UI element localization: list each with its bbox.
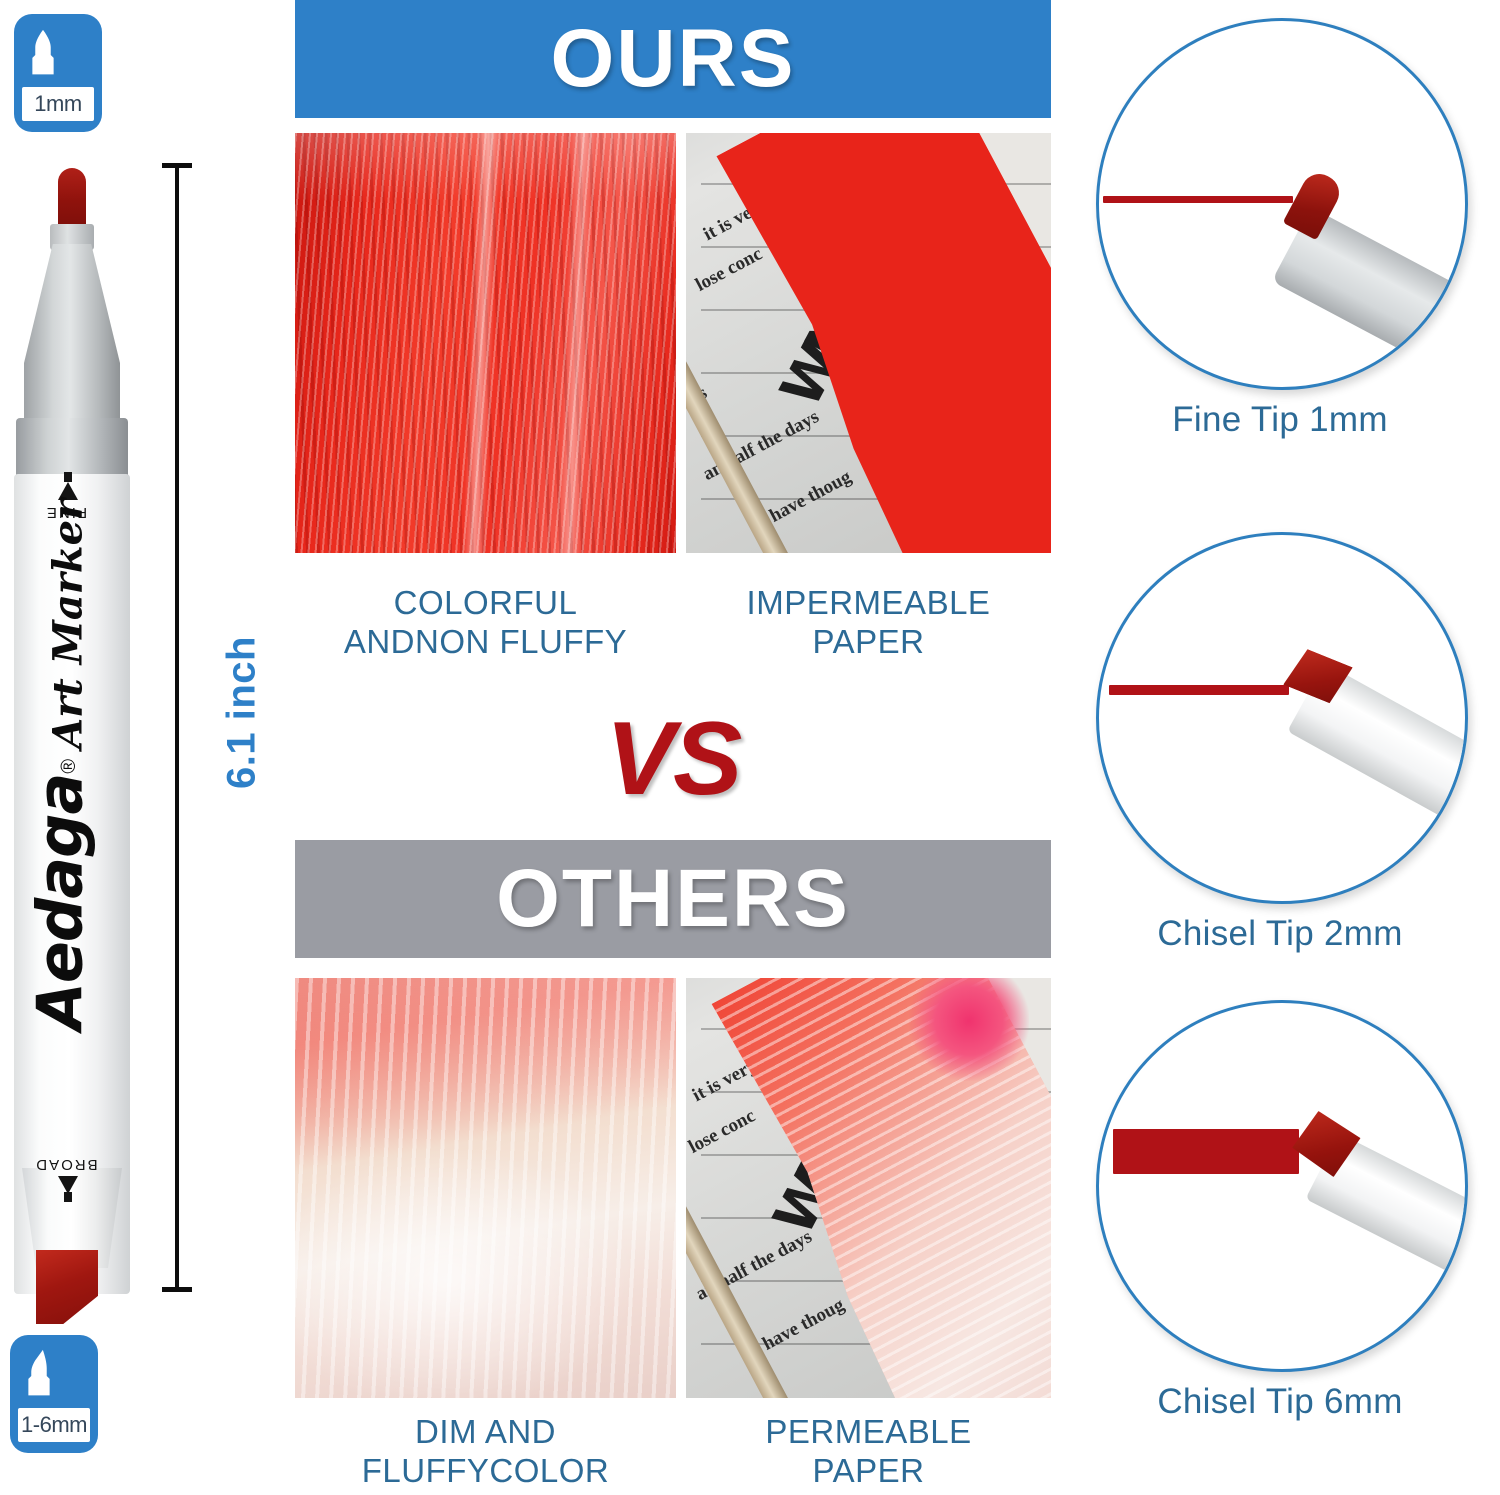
caption-line: COLORFUL bbox=[295, 583, 676, 622]
broad-tip-badge: 1-6mm bbox=[10, 1335, 98, 1453]
chisel-2mm-circle bbox=[1096, 532, 1468, 904]
ours-photo-row: it is very lose conc ys an half the days… bbox=[295, 133, 1051, 553]
dimension-cap-bottom bbox=[162, 1287, 192, 1292]
bullet-nib-icon bbox=[14, 26, 72, 84]
caption-line: DIM AND bbox=[295, 1412, 676, 1451]
ours-paper-photo: it is very lose conc ys an half the days… bbox=[686, 133, 1051, 553]
others-right-caption: PERMEABLE PAPER bbox=[686, 1412, 1051, 1490]
ours-color-swatch-photo bbox=[295, 133, 676, 553]
ours-left-caption: COLORFUL ANDNON FLUFFY bbox=[295, 583, 676, 661]
broad-tip-badge-value: 1-6mm bbox=[18, 1408, 90, 1442]
tip-detail-column: Fine Tip 1mm Chisel Tip 2mm Chisel Tip 6… bbox=[1060, 0, 1500, 1495]
ours-right-caption: IMPERMEABLE PAPER bbox=[686, 583, 1051, 661]
product-line-name: Art Marker bbox=[45, 499, 92, 749]
chisel-nib-icon bbox=[10, 1347, 68, 1405]
pen-branding: Aedaga®Art Marker bbox=[24, 445, 97, 1085]
caption-line: PERMEABLE bbox=[686, 1412, 1051, 1451]
chisel-2mm-stroke-sample bbox=[1109, 685, 1289, 695]
marker-spec-column: 1mm 1-6mm FINE BROAD Aedaga®Art Marker 6… bbox=[0, 0, 285, 1495]
vs-label: VS bbox=[295, 700, 1051, 819]
chisel-2mm-label: Chisel Tip 2mm bbox=[1060, 914, 1500, 954]
caption-line: IMPERMEABLE bbox=[686, 583, 1051, 622]
others-banner: OTHERS bbox=[295, 840, 1051, 958]
fine-tip-label: Fine Tip 1mm bbox=[1060, 400, 1500, 440]
others-photo-row: it is very lose conc an half the days ha… bbox=[295, 978, 1051, 1398]
fine-tip-badge: 1mm bbox=[14, 14, 102, 132]
registered-mark-icon: ® bbox=[58, 759, 80, 774]
marker-pen-illustration: FINE BROAD Aedaga®Art Marker bbox=[8, 168, 136, 1290]
fine-tip-circle bbox=[1096, 18, 1468, 390]
caption-line: FLUFFYCOLOR bbox=[295, 1451, 676, 1490]
fine-tip-badge-value: 1mm bbox=[22, 87, 94, 121]
others-paper-photo: it is very lose conc an half the days ha… bbox=[686, 978, 1051, 1398]
pen-broad-label: BROAD bbox=[8, 1156, 124, 1173]
chisel-6mm-label: Chisel Tip 6mm bbox=[1060, 1382, 1500, 1422]
caption-line: PAPER bbox=[686, 1451, 1051, 1490]
pen-gray-cap-cone bbox=[24, 244, 120, 436]
ours-banner: OURS bbox=[295, 0, 1051, 118]
comparison-column: OURS it is very lose conc ys an half the… bbox=[295, 0, 1051, 1495]
pen-broad-nib bbox=[36, 1250, 98, 1324]
others-left-caption: DIM AND FLUFFYCOLOR bbox=[295, 1412, 676, 1490]
brand-name: Aedaga bbox=[24, 774, 97, 1030]
length-dimension-line bbox=[162, 160, 192, 1295]
fine-stroke-sample bbox=[1103, 196, 1293, 203]
pen-fine-nib bbox=[58, 168, 86, 230]
caption-line: ANDNON FLUFFY bbox=[295, 622, 676, 661]
caption-line: PAPER bbox=[686, 622, 1051, 661]
others-color-swatch-photo bbox=[295, 978, 676, 1398]
broad-arrow-stem-icon bbox=[64, 1192, 72, 1202]
chisel-6mm-stroke-sample bbox=[1113, 1129, 1299, 1174]
length-label: 6.1 inch bbox=[220, 583, 265, 843]
chisel-6mm-circle bbox=[1096, 1000, 1468, 1372]
dimension-bar bbox=[175, 166, 179, 1289]
